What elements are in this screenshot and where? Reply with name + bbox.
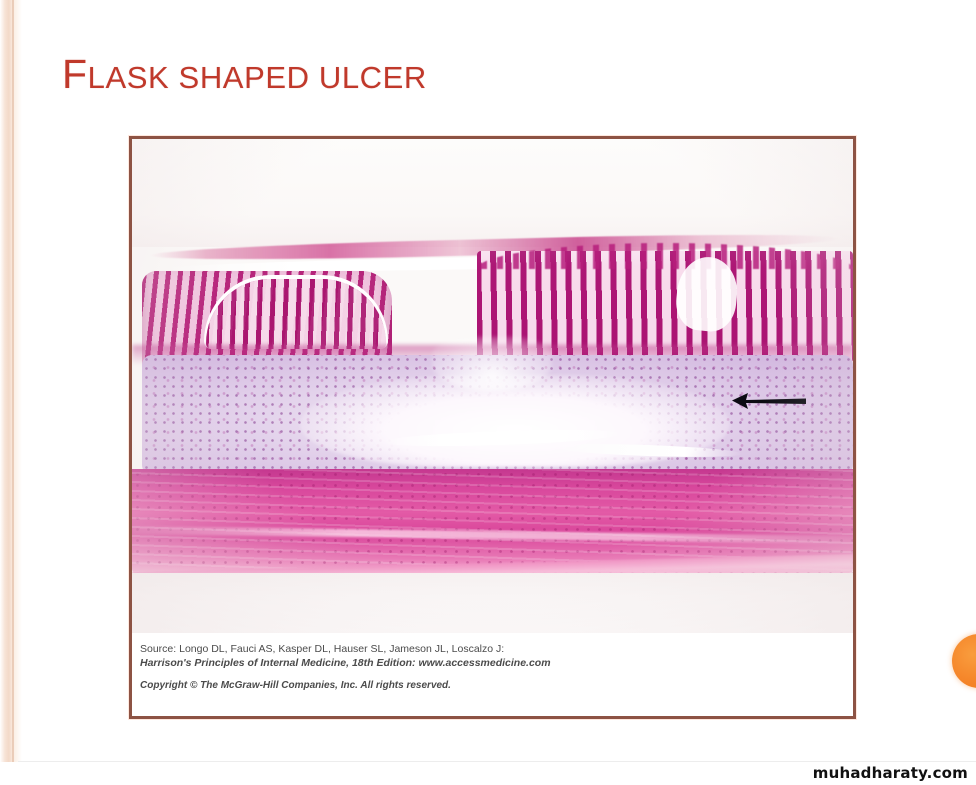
layer-lumen — [132, 139, 853, 247]
figure-caption: Source: Longo DL, Fauci AS, Kasper DL, H… — [132, 633, 853, 716]
footer-bar: muhadharaty.com — [0, 762, 976, 785]
title-rest: LASK SHAPED ULCER — [88, 60, 427, 95]
caption-copyright-line: Copyright © The McGraw-Hill Companies, I… — [140, 679, 853, 693]
caption-source-line-1: Source: Longo DL, Fauci AS, Kasper DL, H… — [140, 643, 853, 657]
left-accent-stripe-line — [12, 0, 14, 762]
histology-image — [132, 139, 853, 633]
page-title: FLASK SHAPED ULCER — [62, 60, 427, 96]
site-watermark: muhadharaty.com — [813, 764, 968, 782]
slide-canvas: FLASK SHAPED ULCER — [0, 0, 976, 762]
left-accent-stripe — [0, 0, 22, 762]
figure-frame: Source: Longo DL, Fauci AS, Kasper DL, H… — [129, 136, 856, 719]
black-arrow-marker-icon — [732, 391, 806, 411]
layer-flask-ulcer-neck — [432, 337, 552, 391]
layer-empty-slide-bottom — [132, 573, 853, 633]
caption-source-line-2: Harrison's Principles of Internal Medici… — [140, 657, 853, 671]
title-first-letter: F — [62, 51, 88, 97]
orange-accent-circle — [952, 634, 976, 688]
